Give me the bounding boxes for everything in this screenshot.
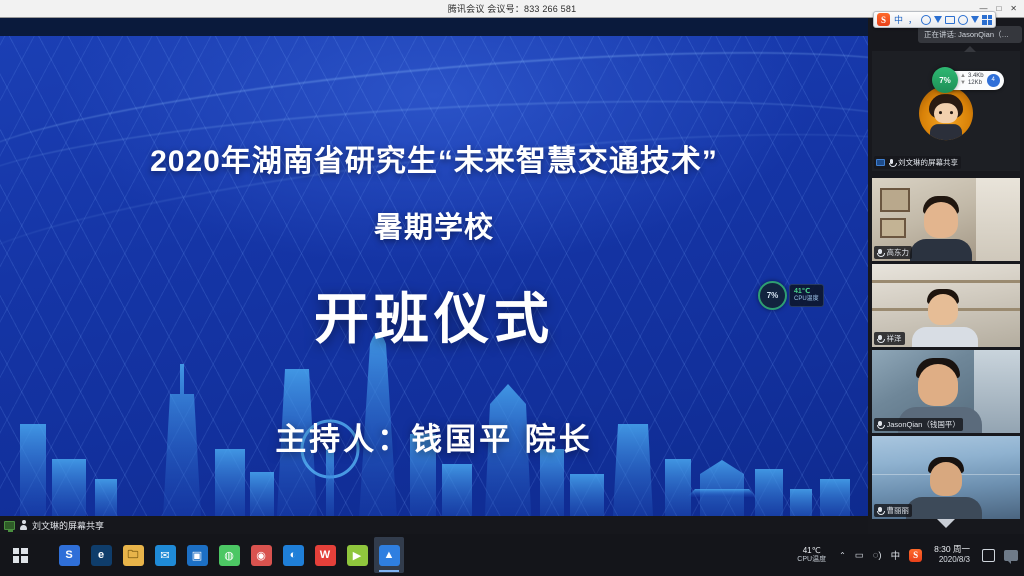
monitor-icon <box>4 521 15 530</box>
microphone-icon <box>876 248 884 257</box>
ime-apps-icon[interactable] <box>982 15 992 25</box>
ime-circle-icon[interactable] <box>921 15 931 25</box>
tray-sogou-icon[interactable]: S <box>909 549 922 562</box>
microphone-icon <box>876 334 884 343</box>
network-status-popup: 7% ▲ 3.4Kb ▼ 12Kb 4 <box>932 67 1004 93</box>
participant-tile-screenshare[interactable]: 7% ▲ 3.4Kb ▼ 12Kb 4 <box>872 51 1020 171</box>
taskbar-app-photos[interactable]: ▣ <box>182 537 212 573</box>
avatar <box>919 86 973 140</box>
upload-rate: 3.4Kb <box>968 73 984 81</box>
windows-logo-icon <box>13 548 28 563</box>
taskbar-app-wps-office[interactable]: W <box>310 537 340 573</box>
download-arrow-icon: ▼ <box>960 80 966 88</box>
file-explorer-icon: 🗀 <box>123 545 144 566</box>
taskbar-app-sogou-pinyin[interactable]: S <box>54 537 84 573</box>
sogou-ime-toolbar[interactable]: S 中 ， <box>873 11 996 28</box>
person-icon <box>19 520 28 530</box>
taskbar-app-google-chrome[interactable]: ◉ <box>246 537 276 573</box>
participant-name-chip: 刘文琳的屏幕共享 <box>874 156 961 169</box>
taskbar-app-file-explorer[interactable]: 🗀 <box>118 537 148 573</box>
window-titlebar: 腾讯会议 会议号：833 266 581 — □ ✕ <box>0 0 1024 18</box>
meeting-title: 腾讯会议 会议号：833 266 581 <box>448 2 577 15</box>
taskbar-app-tencent-meeting[interactable]: ▲ <box>374 537 404 573</box>
ime-input-method-icon[interactable] <box>934 16 942 23</box>
notification-center-icon[interactable] <box>1004 550 1018 561</box>
slide-title-line1: 2020年湖南省研究生“未来智慧交通技术” <box>0 136 868 180</box>
maximize-button[interactable]: □ <box>996 5 1001 13</box>
network-quality-ring: 7% <box>932 67 958 93</box>
wechat-icon: ◍ <box>219 545 240 566</box>
microsoft-edge-icon: e <box>91 545 112 566</box>
presentation-slide: 2020年湖南省研究生“未来智慧交通技术” 暑期学校 开班仪式 主持人：钱国平 … <box>0 36 868 534</box>
cpu-info-box: 41℃ CPU温度 <box>789 284 824 307</box>
participant-name-chip: 高东力 <box>874 246 912 259</box>
google-chrome-icon: ◉ <box>251 545 272 566</box>
start-button[interactable] <box>0 534 40 576</box>
taskbar-app-media-player[interactable]: ▶ <box>342 537 372 573</box>
cpu-temperature-value: 41℃ <box>794 288 819 296</box>
share-banner-label: 刘文琳的屏幕共享 <box>32 519 104 532</box>
microphone-icon <box>888 158 896 167</box>
participant-name: 刘文琳的屏幕共享 <box>898 157 958 168</box>
taskbar-app-qq-browser[interactable]: ◐ <box>278 537 308 573</box>
sogou-pinyin-icon: S <box>59 545 80 566</box>
close-button[interactable]: ✕ <box>1010 5 1017 13</box>
network-badge: 4 <box>987 74 1000 87</box>
network-icon[interactable]: ◌) <box>873 550 882 561</box>
wps-office-icon: W <box>315 545 336 566</box>
download-rate: 12Kb <box>968 80 982 88</box>
taskbar-app-list: S e 🗀 ✉ ▣ ◍ ◉ ◐ W ▶ ▲ <box>54 537 404 573</box>
mail-icon: ✉ <box>155 545 176 566</box>
microphone-icon <box>876 420 884 429</box>
tray-time: 8:30 周一 <box>934 544 970 555</box>
participant-tile-2[interactable]: 祥泽 <box>872 264 1020 347</box>
sogou-logo-icon[interactable]: S <box>877 13 890 26</box>
tray-cpu-monitor[interactable]: 41℃ CPU温度 <box>797 546 826 565</box>
cpu-monitor-widget[interactable]: 7% 41℃ CPU温度 <box>758 281 824 310</box>
media-player-icon: ▶ <box>347 545 368 566</box>
tray-cpu-temp: 41℃ <box>797 546 826 556</box>
participant-name: 祥泽 <box>887 333 902 344</box>
participant-name-chip: 曹丽丽 <box>874 504 912 517</box>
microphone-icon <box>876 506 884 515</box>
cpu-temperature-label: CPU温度 <box>794 296 819 303</box>
shared-screen-stage: 2020年湖南省研究生“未来智慧交通技术” 暑期学校 开班仪式 主持人：钱国平 … <box>0 18 868 534</box>
slide-text-block: 2020年湖南省研究生“未来智慧交通技术” 暑期学校 开班仪式 主持人：钱国平 … <box>0 36 868 534</box>
tray-expand-icon[interactable]: ⌃ <box>839 551 846 560</box>
screen-share-icon <box>876 159 885 167</box>
participant-tile-4[interactable]: 曹丽丽 <box>872 436 1020 519</box>
desktop-root: 腾讯会议 会议号：833 266 581 — □ ✕ S 中 ， <box>0 0 1024 576</box>
tray-cpu-label: CPU温度 <box>797 556 826 565</box>
display-icon[interactable]: ▭ <box>855 550 864 561</box>
ime-punctuation-icon[interactable]: ， <box>907 13 918 26</box>
speaking-chip-arrow-icon <box>964 46 976 52</box>
system-tray: 41℃ CPU温度 ⌃ ▭ ◌) 中 S 8:30 周一 2020/8/3 <box>797 534 1024 576</box>
participant-tile-1[interactable]: 高东力 <box>872 178 1020 261</box>
tray-date: 2020/8/3 <box>934 555 970 565</box>
ime-skin-icon[interactable] <box>971 16 979 23</box>
scroll-down-button[interactable] <box>868 519 1024 528</box>
taskbar-app-mail[interactable]: ✉ <box>150 537 180 573</box>
slide-main-heading: 开班仪式 <box>0 274 868 354</box>
participant-name: 曹丽丽 <box>887 505 910 516</box>
slide-title-line2: 暑期学校 <box>0 204 868 246</box>
taskbar-app-microsoft-edge[interactable]: e <box>86 537 116 573</box>
tencent-meeting-icon: ▲ <box>379 545 400 566</box>
slide-host-line: 主持人：钱国平 院长 <box>0 414 868 459</box>
participant-name: 高东力 <box>887 247 910 258</box>
taskbar-app-wechat[interactable]: ◍ <box>214 537 244 573</box>
participant-name-chip: JasonQian（钱国平） <box>874 418 963 431</box>
upload-arrow-icon: ▲ <box>960 73 966 81</box>
photos-icon: ▣ <box>187 545 208 566</box>
participant-panel: 正在讲话: JasonQian（钱国平... 7% ▲ 3.4Kb <box>868 18 1024 534</box>
task-view-icon[interactable] <box>982 549 995 562</box>
ime-mail-icon[interactable] <box>945 16 955 24</box>
screen-share-banner: 刘文琳的屏幕共享 <box>0 516 868 534</box>
participant-name-chip: 祥泽 <box>874 332 905 345</box>
cpu-usage-ring: 7% <box>758 281 787 310</box>
tray-clock[interactable]: 8:30 周一 2020/8/3 <box>934 544 970 565</box>
ime-chinese-mode-icon[interactable]: 中 <box>893 13 904 26</box>
qq-browser-icon: ◐ <box>283 545 304 566</box>
speaking-indicator-chip: 正在讲话: JasonQian（钱国平... <box>918 26 1022 43</box>
chevron-down-icon <box>937 519 955 528</box>
ime-user-icon[interactable] <box>958 15 968 25</box>
windows-taskbar: S e 🗀 ✉ ▣ ◍ ◉ ◐ W ▶ ▲ 4 <box>0 534 1024 576</box>
participant-name: JasonQian（钱国平） <box>887 419 960 430</box>
ime-icon[interactable]: 中 <box>891 548 901 562</box>
participant-tile-3[interactable]: JasonQian（钱国平） <box>872 350 1020 433</box>
